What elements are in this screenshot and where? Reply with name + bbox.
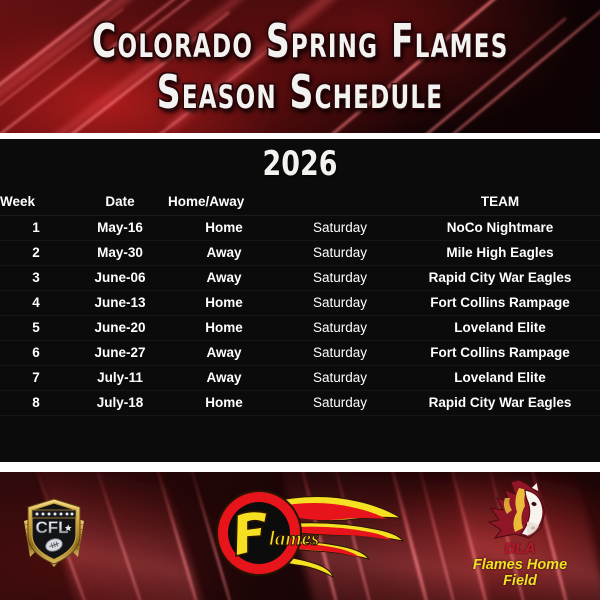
divider-bottom	[0, 462, 600, 472]
team-cell: Fort Collins Rampage	[400, 290, 600, 315]
home-away-cell: Home	[168, 315, 280, 340]
team-cell: Rapid City War Eagles	[400, 390, 600, 415]
team-cell: Loveland Elite	[400, 365, 600, 390]
day-cell: Saturday	[280, 365, 400, 390]
schedule-poster: Colorado Spring Flames Season Schedule 2…	[0, 0, 600, 600]
day-cell: Saturday	[280, 215, 400, 240]
day-cell: Saturday	[280, 240, 400, 265]
schedule-table: Week Date Home/Away TEAM 1May-16HomeSatu…	[0, 189, 600, 416]
team-cell: Fort Collins Rampage	[400, 340, 600, 365]
week-cell: 5	[0, 315, 72, 340]
day-cell: Saturday	[280, 290, 400, 315]
home-away-cell: Away	[168, 240, 280, 265]
poster-title-line-1: Colorado Spring Flames	[92, 18, 508, 64]
table-row: 5June-20HomeSaturdayLoveland Elite	[0, 315, 600, 340]
week-cell: 1	[0, 215, 72, 240]
cfl-shield-icon: CFL	[20, 495, 88, 569]
column-header-team: TEAM	[400, 189, 600, 216]
week-cell: 7	[0, 365, 72, 390]
week-cell: 6	[0, 340, 72, 365]
week-cell: 4	[0, 290, 72, 315]
week-cell: 2	[0, 240, 72, 265]
home-away-cell: Home	[168, 390, 280, 415]
flames-wordmark: lames	[269, 526, 319, 550]
day-cell: Saturday	[280, 265, 400, 290]
home-away-cell: Away	[168, 265, 280, 290]
schedule-table-body: 1May-16HomeSaturdayNoCo Nightmare2May-30…	[0, 215, 600, 415]
home-away-cell: Away	[168, 365, 280, 390]
day-cell: Saturday	[280, 390, 400, 415]
schedule-table-head: Week Date Home/Away TEAM	[0, 189, 600, 216]
date-cell: June-06	[72, 265, 168, 290]
column-header-week: Week	[0, 189, 72, 216]
table-row: 1May-16HomeSaturdayNoCo Nightmare	[0, 215, 600, 240]
home-away-cell: Home	[168, 290, 280, 315]
table-row: 4June-13HomeSaturdayFort Collins Rampage	[0, 290, 600, 315]
flames-fireball-icon: lames	[205, 485, 405, 585]
team-cell: Mile High Eagles	[400, 240, 600, 265]
table-row: 6June-27AwaySaturdayFort Collins Rampage	[0, 340, 600, 365]
table-row: 2May-30AwaySaturdayMile High Eagles	[0, 240, 600, 265]
bla-abbreviation: BLA	[455, 541, 585, 556]
date-cell: July-18	[72, 390, 168, 415]
home-away-cell: Home	[168, 215, 280, 240]
flames-logo: lames	[205, 485, 405, 585]
season-year: 2026	[36, 139, 564, 183]
team-cell: Loveland Elite	[400, 315, 600, 340]
date-cell: May-16	[72, 215, 168, 240]
bla-subtitle-line-1: Flames Home	[473, 557, 567, 573]
date-cell: May-30	[72, 240, 168, 265]
table-row: 8July-18HomeSaturdayRapid City War Eagle…	[0, 390, 600, 415]
mustang-head-icon	[475, 478, 565, 544]
poster-title-line-2: Season Schedule	[157, 69, 443, 115]
day-cell: Saturday	[280, 315, 400, 340]
date-cell: June-20	[72, 315, 168, 340]
table-header-row: Week Date Home/Away TEAM	[0, 189, 600, 216]
date-cell: June-27	[72, 340, 168, 365]
team-cell: NoCo Nightmare	[400, 215, 600, 240]
cfl-wordmark: CFL	[35, 518, 68, 537]
day-cell: Saturday	[280, 340, 400, 365]
team-cell: Rapid City War Eagles	[400, 265, 600, 290]
week-cell: 8	[0, 390, 72, 415]
table-row: 7July-11AwaySaturdayLoveland Elite	[0, 365, 600, 390]
banner-title-group: Colorado Spring Flames Season Schedule	[0, 0, 600, 133]
date-cell: June-13	[72, 290, 168, 315]
column-header-home-away: Home/Away	[168, 189, 280, 216]
schedule-section: 2026 Week Date Home/Away TEAM 1May-16Hom…	[0, 139, 600, 462]
column-header-day	[280, 189, 400, 216]
home-away-cell: Away	[168, 340, 280, 365]
column-header-date: Date	[72, 189, 168, 216]
date-cell: July-11	[72, 365, 168, 390]
table-row: 3June-06AwaySaturdayRapid City War Eagle…	[0, 265, 600, 290]
bla-subtitle-line-2: Field	[503, 573, 537, 589]
header-banner: Colorado Spring Flames Season Schedule	[0, 0, 600, 133]
week-cell: 3	[0, 265, 72, 290]
cfl-logo: CFL	[20, 495, 88, 569]
bla-logo: BLA Flames Home Field	[455, 478, 585, 598]
